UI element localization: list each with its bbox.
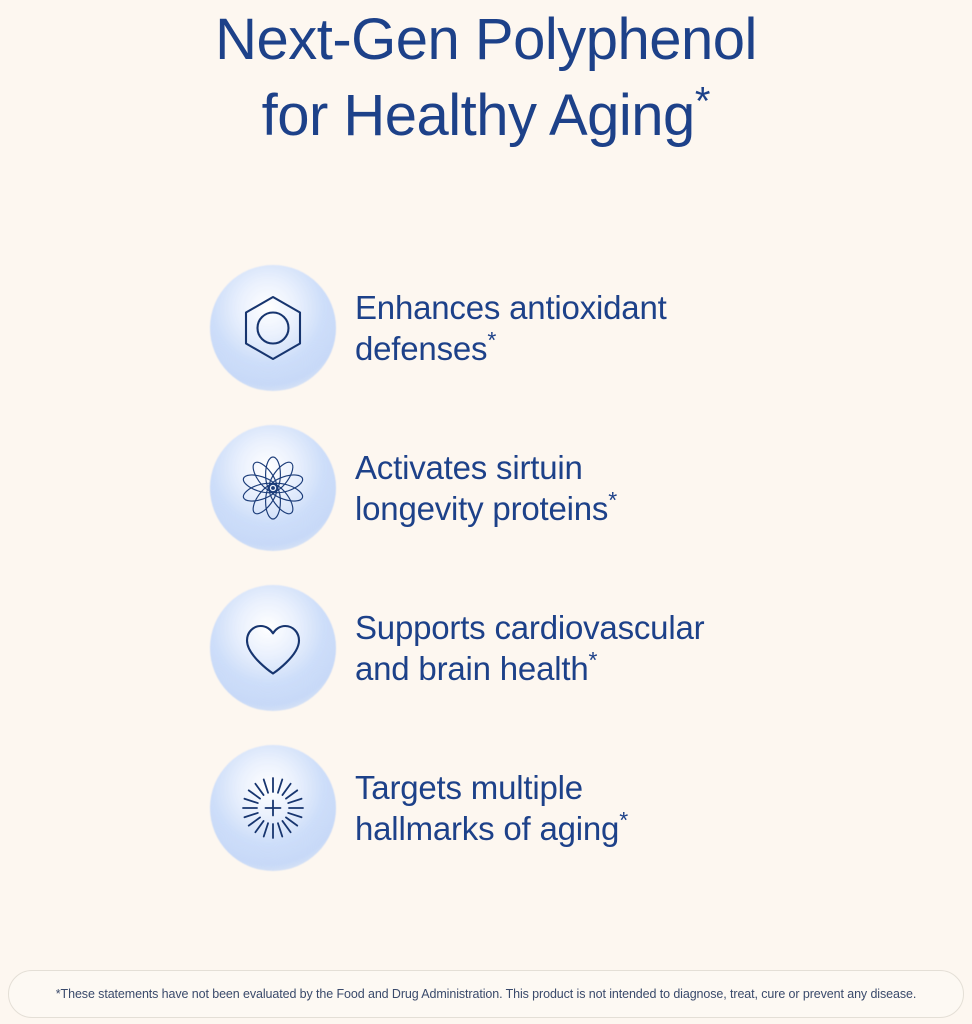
- page-title: Next-Gen Polyphenol for Healthy Aging*: [0, 0, 972, 154]
- page-title-line-1: Next-Gen Polyphenol: [0, 2, 972, 78]
- benefit-line-1: Enhances antioxidant: [355, 289, 667, 326]
- flower-petals-icon: [237, 452, 309, 524]
- fda-disclaimer-box: *These statements have not been evaluate…: [8, 970, 964, 1018]
- benefit-line-2: defenses: [355, 330, 487, 367]
- benefit-label-sirtuin: Activates sirtuin longevity proteins*: [353, 447, 617, 529]
- page-title-line-2: for Healthy Aging*: [0, 78, 972, 154]
- benefit-line-2: longevity proteins: [355, 490, 608, 527]
- benefit-line-1: Targets multiple: [355, 769, 583, 806]
- radiant-burst-plus-icon: [237, 772, 309, 844]
- benefit-line-1: Supports cardiovascular: [355, 609, 704, 646]
- benefit-item-antioxidant: Enhances antioxidant defenses*: [0, 248, 972, 408]
- benefit-asterisk: *: [619, 807, 628, 833]
- heart-icon: [237, 612, 309, 684]
- page-title-line-2-text: for Healthy Aging: [262, 83, 695, 148]
- benefit-label-cardiovascular: Supports cardiovascular and brain health…: [353, 607, 704, 689]
- benefit-label-antioxidant: Enhances antioxidant defenses*: [353, 287, 667, 369]
- benefit-icon-container: [193, 743, 353, 873]
- benefit-line-1: Activates sirtuin: [355, 449, 583, 486]
- benefit-asterisk: *: [589, 647, 598, 673]
- benefit-label-hallmarks: Targets multiple hallmarks of aging*: [353, 767, 628, 849]
- benefit-icon-container: [193, 263, 353, 393]
- benefit-asterisk: *: [487, 327, 496, 353]
- benefit-item-cardiovascular: Supports cardiovascular and brain health…: [0, 568, 972, 728]
- benefit-item-hallmarks: Targets multiple hallmarks of aging*: [0, 728, 972, 888]
- benefit-icon-container: [193, 583, 353, 713]
- fda-disclaimer-text: *These statements have not been evaluate…: [56, 986, 916, 1002]
- page-title-asterisk: *: [695, 80, 711, 124]
- hexagon-circle-icon: [237, 292, 309, 364]
- benefits-list: Enhances antioxidant defenses*: [0, 248, 972, 888]
- benefit-item-sirtuin: Activates sirtuin longevity proteins*: [0, 408, 972, 568]
- benefit-line-2: hallmarks of aging: [355, 810, 619, 847]
- benefit-line-2: and brain health: [355, 650, 589, 687]
- benefit-asterisk: *: [608, 487, 617, 513]
- benefit-icon-container: [193, 423, 353, 553]
